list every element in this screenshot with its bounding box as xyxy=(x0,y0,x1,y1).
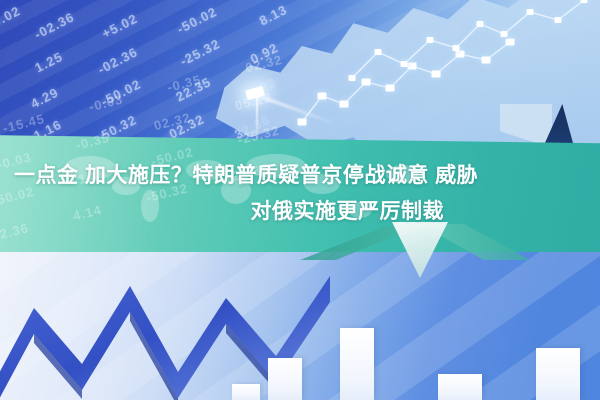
chart-bar xyxy=(232,384,260,400)
chart-bar xyxy=(536,348,580,400)
chart-bar xyxy=(268,358,302,400)
chart-bar xyxy=(438,374,482,400)
chart-bar xyxy=(340,328,374,400)
headline-line-1: 一点金 加大施压？特朗普质疑普京停战诚意 威胁 xyxy=(14,158,586,194)
headline-text: 一点金 加大施压？特朗普质疑普京停战诚意 威胁 对俄实施更严厉制裁 xyxy=(0,158,600,230)
headline-line-2: 对俄实施更严厉制裁 xyxy=(14,194,586,230)
bar-chart-group xyxy=(0,252,600,400)
news-banner-image: -50.02-11.25-02.36-50.0221.05 2.35-02.36… xyxy=(0,0,600,400)
